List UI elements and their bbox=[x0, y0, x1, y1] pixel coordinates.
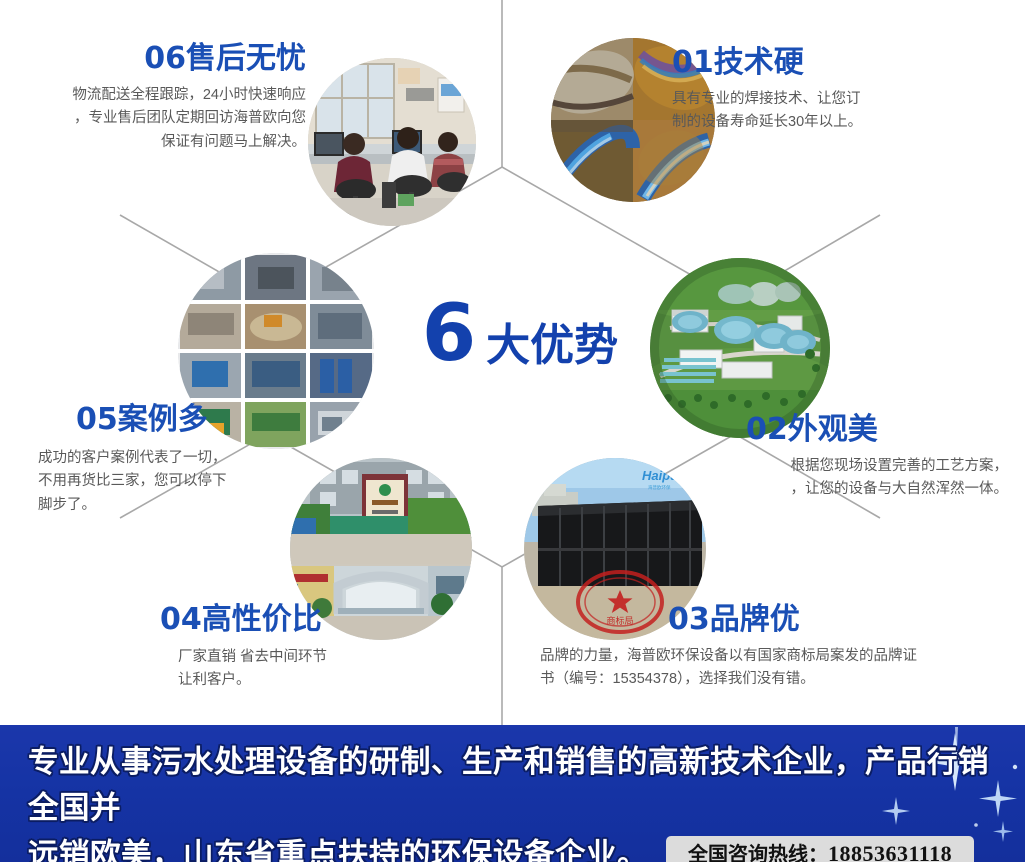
advantage-05-line-3: 脚步了。 bbox=[38, 494, 328, 517]
advantage-02-number: 02 bbox=[746, 412, 788, 447]
advantage-block-02: 02外观美 根据您现场设置完善的工艺方案， ，让您的设备与大自然浑然一体。 bbox=[690, 415, 1008, 502]
advantage-06-line-2: ，专业售后团队定期回访海普欧向您 bbox=[18, 107, 306, 130]
svg-text:Haipuou: Haipuou bbox=[642, 468, 694, 483]
photo-circle-06-office bbox=[308, 58, 476, 226]
advantage-06-line-3: 保证有问题马上解决。 bbox=[18, 131, 306, 154]
advantage-03-line-1: 品牌的力量，海普欧环保设备以有国家商标局案发的品牌证 bbox=[540, 645, 1020, 668]
advantage-04-line-2: 让利客户。 bbox=[178, 669, 460, 692]
advantage-block-03: 03品牌优 品牌的力量，海普欧环保设备以有国家商标局案发的品牌证 书（编号：15… bbox=[540, 605, 1020, 692]
advantage-01-line-1: 具有专业的焊接技术、让您订 bbox=[672, 88, 972, 111]
svg-text:海普欧环保: 海普欧环保 bbox=[648, 484, 671, 491]
center-label-text: 大优势 bbox=[486, 324, 618, 368]
advantage-05-number: 05 bbox=[76, 402, 118, 437]
hotline-number: 18853631118 bbox=[828, 841, 952, 862]
center-number: 6 bbox=[422, 295, 476, 373]
advantage-02-line-2: ，让您的设备与大自然浑然一体。 bbox=[690, 478, 1008, 501]
banner-line-1: 专业从事污水处理设备的研制、生产和销售的高新技术企业，产品行销全国并 bbox=[28, 739, 1008, 832]
banner-text: 专业从事污水处理设备的研制、生产和销售的高新技术企业，产品行销全国并 远销欧美，… bbox=[28, 739, 1008, 862]
advantage-04-body: 厂家直销 省去中间环节 让利客户。 bbox=[178, 646, 460, 693]
advantages-infographic: 商标局 Haipuou 海普欧环保 6 大优势 06售后无忧 物流配送全程跟踪，… bbox=[0, 0, 1025, 862]
banner-line-2: 远销欧美，山东省重点扶持的环保设备企业。 bbox=[28, 832, 648, 862]
advantage-06-body: 物流配送全程跟踪，24小时快速响应 ，专业售后团队定期回访海普欧向您 保证有问题… bbox=[18, 84, 306, 154]
advantage-06-line-1: 物流配送全程跟踪，24小时快速响应 bbox=[18, 84, 306, 107]
advantage-01-body: 具有专业的焊接技术、让您订 制的设备寿命延长30年以上。 bbox=[672, 88, 972, 135]
advantage-03-title: 品牌优 bbox=[710, 603, 800, 636]
advantage-05-line-1: 成功的客户案例代表了一切， bbox=[38, 447, 328, 470]
advantage-block-05: 05案例多 成功的客户案例代表了一切， 不用再货比三家，您可以停下 脚步了。 bbox=[38, 405, 328, 517]
advantage-03-number: 03 bbox=[668, 602, 710, 637]
advantage-02-body: 根据您现场设置完善的工艺方案， ，让您的设备与大自然浑然一体。 bbox=[690, 455, 1008, 502]
advantage-06-title: 售后无忧 bbox=[186, 42, 306, 75]
advantage-03-line-2: 书（编号：15354378），选择我们没有错。 bbox=[540, 668, 1020, 691]
advantage-01-number: 01 bbox=[672, 45, 714, 80]
photo-circle-02-aerial-plant bbox=[650, 258, 830, 438]
advantage-06-number: 06 bbox=[144, 41, 186, 76]
advantage-03-body: 品牌的力量，海普欧环保设备以有国家商标局案发的品牌证 书（编号：15354378… bbox=[540, 645, 1020, 692]
advantage-04-line-1: 厂家直销 省去中间环节 bbox=[178, 646, 460, 669]
advantage-02-line-1: 根据您现场设置完善的工艺方案， bbox=[690, 455, 1008, 478]
bottom-banner: 专业从事污水处理设备的研制、生产和销售的高新技术企业，产品行销全国并 远销欧美，… bbox=[0, 725, 1025, 862]
advantage-01-line-2: 制的设备寿命延长30年以上。 bbox=[672, 111, 972, 134]
advantage-block-04: 04高性价比 厂家直销 省去中间环节 让利客户。 bbox=[160, 605, 460, 693]
advantage-04-title: 高性价比 bbox=[202, 603, 322, 636]
advantage-01-title: 技术硬 bbox=[714, 46, 804, 79]
hotline-box: 全国咨询热线：18853631118 bbox=[666, 836, 974, 862]
advantage-05-body: 成功的客户案例代表了一切， 不用再货比三家，您可以停下 脚步了。 bbox=[38, 447, 328, 517]
advantage-02-title: 外观美 bbox=[788, 413, 878, 446]
advantage-04-number: 04 bbox=[160, 602, 202, 637]
advantage-block-06: 06售后无忧 物流配送全程跟踪，24小时快速响应 ，专业售后团队定期回访海普欧向… bbox=[18, 44, 306, 154]
hotline-label: 全国咨询热线： bbox=[688, 844, 828, 862]
advantage-05-title: 案例多 bbox=[118, 403, 208, 436]
center-label: 6 大优势 bbox=[400, 295, 640, 385]
advantage-05-line-2: 不用再货比三家，您可以停下 bbox=[38, 470, 328, 493]
advantage-block-01: 01技术硬 具有专业的焊接技术、让您订 制的设备寿命延长30年以上。 bbox=[672, 48, 972, 135]
